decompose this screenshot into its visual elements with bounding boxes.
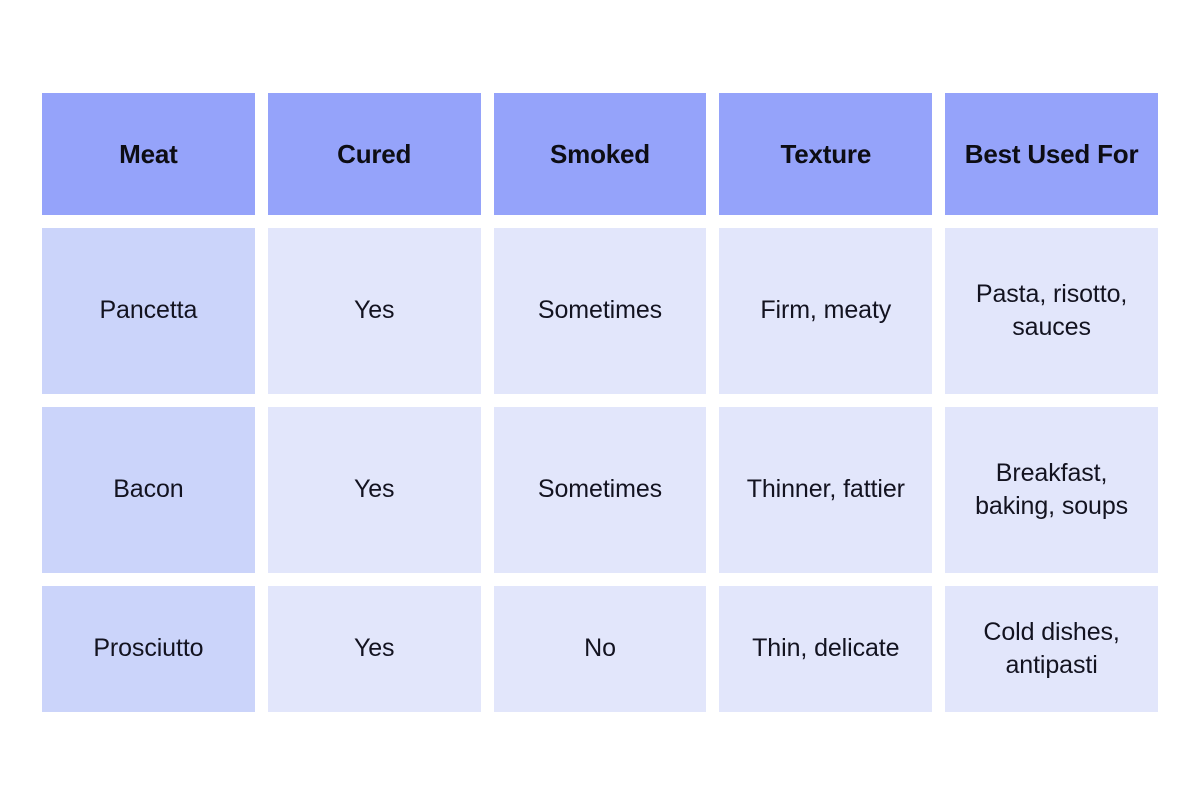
cell-value: No (584, 632, 616, 666)
column-header-label: Best Used For (965, 137, 1139, 172)
cell-cured: Yes (268, 228, 481, 394)
cell-value: Firm, meaty (760, 294, 891, 328)
cell-value: Bacon (113, 473, 183, 507)
column-header-cured: Cured (268, 93, 481, 215)
column-header-label: Smoked (550, 137, 650, 172)
cell-texture: Thin, delicate (719, 586, 932, 712)
cell-value: Pasta, risotto, sauces (955, 278, 1148, 345)
column-header-texture: Texture (719, 93, 932, 215)
table-row: Prosciutto Yes No Thin, delicate Cold di… (42, 586, 1158, 712)
column-header-label: Texture (780, 137, 871, 172)
cell-meat: Pancetta (42, 228, 255, 394)
cell-value: Yes (354, 294, 394, 328)
column-header-label: Meat (119, 137, 177, 172)
cell-value: Breakfast, baking, soups (955, 457, 1148, 524)
cell-best-used-for: Breakfast, baking, soups (945, 407, 1158, 573)
cell-value: Sometimes (538, 294, 662, 328)
cell-smoked: Sometimes (494, 228, 707, 394)
cell-value: Yes (354, 632, 394, 666)
page-canvas: Meat Cured Smoked Texture Best Used For … (0, 0, 1200, 800)
cell-value: Prosciutto (93, 632, 203, 666)
cell-smoked: Sometimes (494, 407, 707, 573)
cell-value: Cold dishes, antipasti (955, 616, 1148, 683)
table-row: Bacon Yes Sometimes Thinner, fattier Bre… (42, 407, 1158, 573)
cell-cured: Yes (268, 407, 481, 573)
table-row: Pancetta Yes Sometimes Firm, meaty Pasta… (42, 228, 1158, 394)
cell-texture: Firm, meaty (719, 228, 932, 394)
cell-cured: Yes (268, 586, 481, 712)
cell-meat: Bacon (42, 407, 255, 573)
column-header-smoked: Smoked (494, 93, 707, 215)
cell-value: Thinner, fattier (747, 473, 905, 507)
cell-value: Pancetta (99, 294, 197, 328)
table-header-row: Meat Cured Smoked Texture Best Used For (42, 93, 1158, 215)
cell-value: Yes (354, 473, 394, 507)
cell-texture: Thinner, fattier (719, 407, 932, 573)
cell-best-used-for: Cold dishes, antipasti (945, 586, 1158, 712)
column-header-label: Cured (337, 137, 411, 172)
column-header-best-used-for: Best Used For (945, 93, 1158, 215)
watermark-text (455, 716, 745, 742)
comparison-table: Meat Cured Smoked Texture Best Used For … (42, 93, 1158, 712)
cell-meat: Prosciutto (42, 586, 255, 712)
cell-value: Thin, delicate (752, 632, 899, 666)
cell-best-used-for: Pasta, risotto, sauces (945, 228, 1158, 394)
cell-smoked: No (494, 586, 707, 712)
column-header-meat: Meat (42, 93, 255, 215)
cell-value: Sometimes (538, 473, 662, 507)
